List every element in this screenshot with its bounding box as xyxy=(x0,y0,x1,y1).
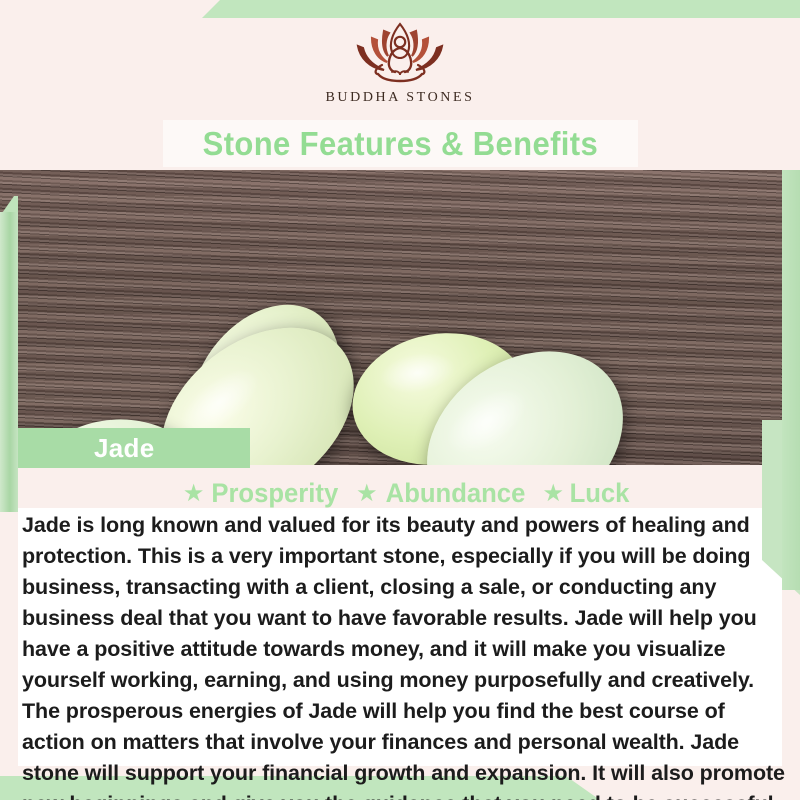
brand-name: BUDDHA STONES xyxy=(0,90,800,106)
green-top-band-decor xyxy=(0,0,800,18)
keyword-row: ★Prosperity★Abundance★Luck xyxy=(0,478,800,509)
description-text: Jade is long known and valued for its be… xyxy=(22,510,788,800)
star-icon-3: ★ xyxy=(543,479,565,508)
stone-photo xyxy=(0,170,800,465)
keyword-abundance: Abundance xyxy=(385,478,525,509)
lotus-meditation-icon xyxy=(332,18,468,86)
stone-info-card: BUDDHA STONES Stone Features & Benefits … xyxy=(0,0,800,800)
star-icon-2: ★ xyxy=(356,479,378,508)
page-title-ribbon: Stone Features & Benefits xyxy=(163,120,638,167)
page-title: Stone Features & Benefits xyxy=(203,125,599,163)
green-right-strip-decor xyxy=(782,170,800,590)
keyword-prosperity: Prosperity xyxy=(212,478,339,509)
keyword-luck: Luck xyxy=(570,478,630,509)
stone-name-badge: Jade xyxy=(18,428,250,468)
stone-name-label: Jade xyxy=(94,433,154,464)
green-left-strip-decor xyxy=(0,212,18,512)
star-icon-1: ★ xyxy=(183,479,205,508)
brand-header: BUDDHA STONES xyxy=(0,18,800,106)
